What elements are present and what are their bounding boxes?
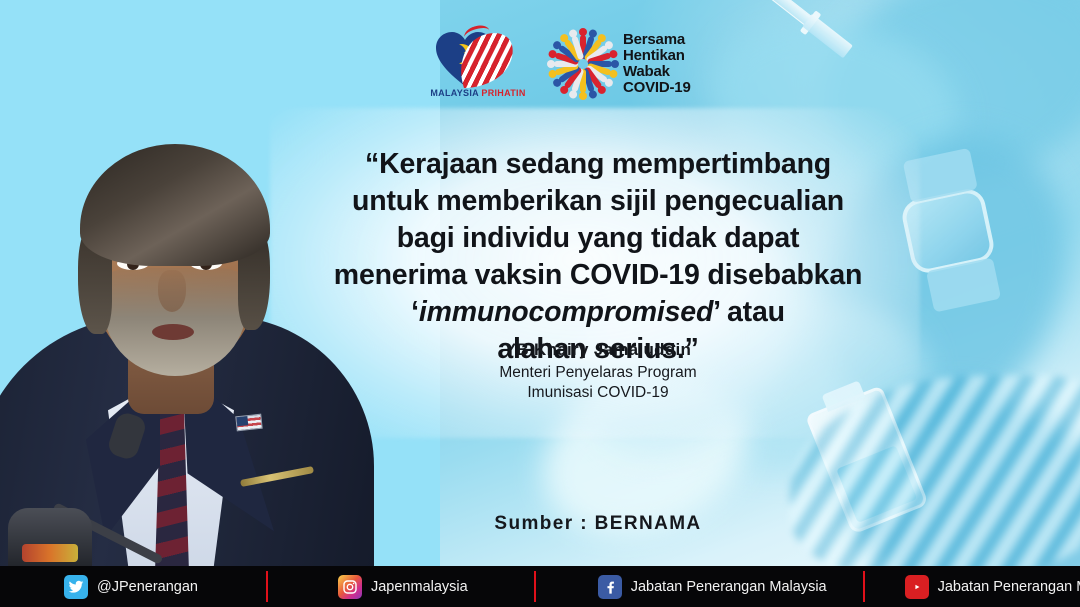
social-item-facebook[interactable]: Jabatan Penerangan Malaysia [598,566,827,607]
quote-line-3: bagi individu yang tidak dapat [397,222,800,254]
quote-line-5-pre: ‘ [411,296,419,328]
footer-divider [534,571,536,602]
quote-text: “Kerajaan sedang mempertimbang untuk mem… [268,146,928,368]
footer-divider [863,571,865,602]
bersama-wordmark: Bersama Hentikan Wabak COVID-19 [623,32,691,96]
social-item-twitter[interactable]: @JPenerangan [64,566,198,607]
bersama-line-4: COVID-19 [623,79,691,96]
quote-line-2: untuk memberikan sijil pengecualian [352,185,844,217]
prihatin-word-prihatin: PRIHATIN [481,88,525,98]
source-credit: Sumber : BERNAMA [268,513,928,535]
hair [80,144,270,266]
speaker-name: YB Khairy Jamaluddin [268,340,928,360]
bersama-line-3: Wabak [623,63,670,80]
speaker-role-line-1: Menteri Penyelaras Program [268,363,928,383]
attribution-block: YB Khairy Jamaluddin Menteri Penyelaras … [268,340,928,403]
quote-line-5-italic: immunocompromised [419,296,713,328]
bersama-line-2: Hentikan [623,47,685,64]
malaysia-flag-lapel-pin [235,414,262,432]
facebook-handle: Jabatan Penerangan Malaysia [631,579,827,595]
instagram-handle: Japenmalaysia [371,579,468,595]
quote-open-mark: “ [365,148,379,180]
logo-row: ★ MALAYSIA PRIHATIN Bersama Hentikan Wab… [430,30,691,98]
twitter-icon[interactable] [64,575,88,599]
poster-canvas: ★ MALAYSIA PRIHATIN Bersama Hentikan Wab… [0,0,1080,607]
social-footer-bar: @JPenerangan Japenmalaysia Jabatan Pener… [0,566,1080,607]
nose [158,270,186,312]
quote-line-4: menerima vaksin COVID-19 disebabkan [334,259,862,291]
press-microphone [8,508,92,566]
footer-divider [266,571,268,602]
people-starburst-icon [552,33,614,95]
bersama-hentikan-wabak-logo: Bersama Hentikan Wabak COVID-19 [552,32,691,96]
malaysia-prihatin-wordmark: MALAYSIA PRIHATIN [430,88,526,98]
instagram-icon[interactable] [338,575,362,599]
youtube-handle: Jabatan Penerangan Malaysia [938,579,1080,595]
malaysia-prihatin-logo: ★ MALAYSIA PRIHATIN [430,30,526,98]
quote-line-5-post: ’ atau [713,296,785,328]
social-item-youtube[interactable]: Jabatan Penerangan Malaysia [905,566,1080,607]
mouth [152,324,194,340]
prihatin-word-malaysia: MALAYSIA [430,88,478,98]
bersama-line-1: Bersama [623,31,685,48]
speaker-role-line-2: Imunisasi COVID-19 [268,383,928,403]
facebook-icon[interactable] [598,575,622,599]
youtube-icon[interactable] [905,575,929,599]
quote-line-1: Kerajaan sedang mempertimbang [379,148,831,180]
social-item-instagram[interactable]: Japenmalaysia [338,566,468,607]
twitter-handle: @JPenerangan [97,579,198,595]
